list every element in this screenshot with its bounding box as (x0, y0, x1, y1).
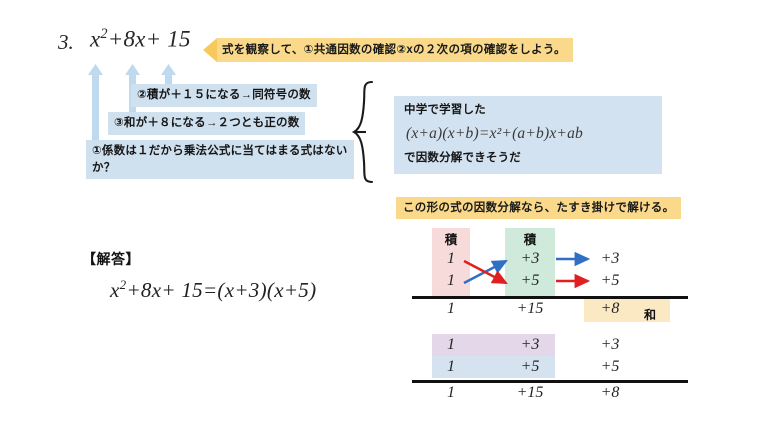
answer-rest: +8x+ 15=(x+3)(x+5) (126, 278, 316, 302)
answer-base: x (110, 278, 120, 302)
problem-expression-rest: +8x+ 15 (108, 27, 191, 52)
slide-canvas: 3. x2+8x+ 15 式を観察して、①共通因数の確認②xの２次の項の確認をし… (0, 0, 780, 439)
tasukigake-table-1: 積 積 1 +3 +3 1 +5 +5 1 +15 +8 和 (412, 228, 692, 328)
up-arrow-head-icon (161, 64, 176, 75)
answer-equation: x2+8x+ 15=(x+3)(x+5) (110, 277, 316, 303)
middle-school-formula-box: 中学で学習した (x+a)(x+b)=x²+(a+b)x+ab で因数分解できそ… (394, 96, 662, 174)
problem-expression-exponent: 2 (100, 26, 107, 42)
table1-horizontal-rule (412, 296, 688, 299)
formula-conclusion-text: で因数分解できそうだ (404, 150, 654, 167)
curly-brace (352, 80, 378, 184)
row2-right-value: +5 (584, 358, 636, 376)
row1-mid-value: +3 (505, 336, 555, 354)
row1-right-value: +3 (584, 336, 636, 354)
sum-label: 和 (644, 306, 656, 323)
row2-left-value: 1 (432, 358, 470, 376)
problem-expression: x2+8x+ 15 (90, 26, 191, 53)
formula-expression: (x+a)(x+b)=x²+(a+b)x+ab (406, 122, 654, 145)
problem-expression-base: x (90, 27, 100, 52)
tasukigake-banner-text: この形の式の因数分解なら、たすき掛けで解ける。 (396, 197, 681, 219)
callout-coefficient: ①係数は１だから乗法公式に当てはまる式はないか？ (86, 140, 354, 179)
up-arrow-1 (88, 64, 103, 151)
total-mid-value: +15 (500, 384, 560, 402)
observation-banner-text: 式を観察して、①共通因数の確認②xの２次の項の確認をしよう。 (217, 38, 573, 62)
problem-number: 3. (58, 30, 74, 55)
total-right-value: +8 (584, 384, 636, 402)
tasukigake-table-2: 1 +3 +3 1 +5 +5 1 +15 +8 (412, 334, 692, 400)
up-arrow-head-icon (125, 64, 140, 75)
left-arrow-icon (203, 38, 217, 62)
total-left-value: 1 (432, 384, 470, 402)
answer-label: 【解答】 (82, 249, 140, 269)
formula-intro-text: 中学で学習した (404, 102, 654, 119)
observation-banner: 式を観察して、①共通因数の確認②xの２次の項の確認をしよう。 (203, 38, 573, 62)
table2-horizontal-rule (412, 380, 688, 383)
row1-left-value: 1 (432, 336, 470, 354)
total-left-value: 1 (432, 300, 470, 318)
row2-mid-value: +5 (505, 358, 555, 376)
total-right-value: +8 (584, 300, 636, 318)
up-arrow-head-icon (88, 64, 103, 75)
total-mid-value: +15 (500, 300, 560, 318)
callout-product: ②積が＋１５になる→同符号の数 (131, 84, 317, 107)
callout-sum: ③和が＋８になる→２つとも正の数 (108, 112, 305, 135)
